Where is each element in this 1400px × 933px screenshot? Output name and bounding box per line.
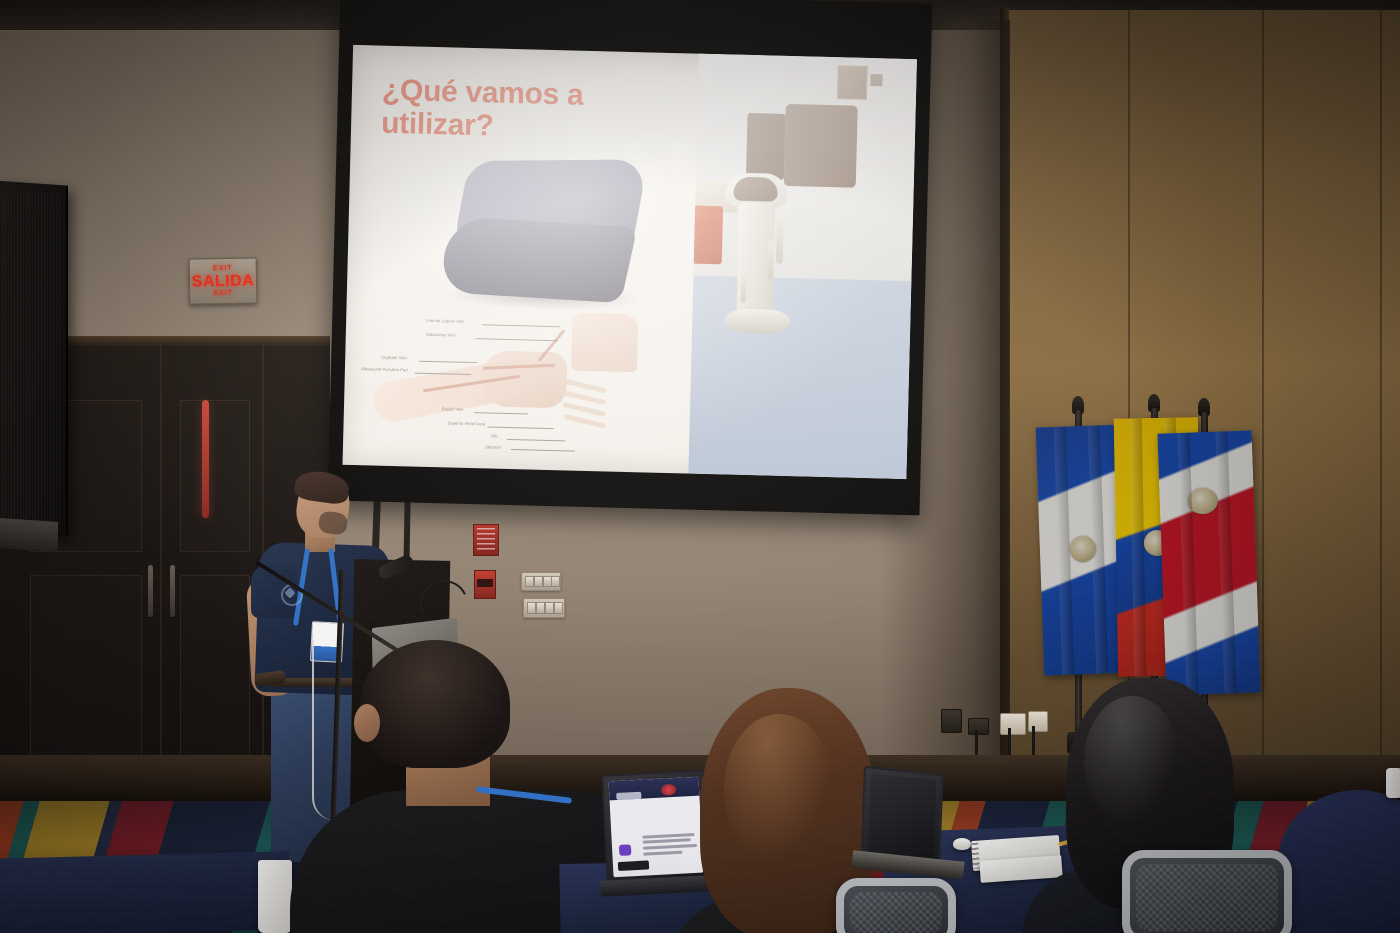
conference-room-photo: EXIT SALIDA EXIT ¿Qué vamos a utilizar? [0, 0, 1400, 933]
anatomy-label-internal-jugular-vein: Internal Jugular Vein [426, 318, 464, 324]
door-edge-light [202, 400, 209, 518]
label-leader-line [476, 338, 558, 341]
photo-red-cart [692, 206, 723, 265]
exit-sign: EXIT SALIDA EXIT [189, 257, 258, 304]
slide-title: ¿Qué vamos a utilizar? [381, 74, 653, 147]
exit-sign-main-label: SALIDA [192, 272, 255, 290]
computer-mouse[interactable] [953, 838, 971, 850]
projection-screen: ¿Qué vamos a utilizar? [328, 0, 933, 515]
audience-chair[interactable] [1122, 850, 1292, 933]
audience-chair[interactable] [836, 878, 956, 933]
speaker-mount [0, 518, 58, 552]
cart-probe [741, 273, 747, 303]
laptop-screen[interactable] [868, 773, 937, 862]
label-leader-line [474, 412, 528, 414]
slide-device-illustration [437, 157, 661, 313]
hair-highlight [724, 714, 834, 864]
attendee-hair [360, 640, 510, 768]
anatomy-label-sternum: Sternum [485, 444, 501, 449]
photo-wall-box [837, 65, 868, 100]
device-front-face [436, 216, 637, 303]
page-button[interactable] [618, 860, 649, 871]
front-table-left [0, 851, 291, 933]
chair-mesh-back [1136, 864, 1278, 931]
wall-speaker [0, 180, 68, 535]
label-leader-line [507, 439, 565, 441]
slide-title-line-2: utilizar? [381, 107, 652, 147]
chair-frame [1122, 850, 1292, 933]
anatomy-rib [564, 414, 606, 429]
anatomy-label-basilic-vein: Basilic Vein [442, 406, 464, 412]
door-handle[interactable] [148, 565, 153, 617]
page-badge [619, 845, 631, 856]
slide-clinical-photo [688, 54, 917, 479]
laptop-screen[interactable] [609, 777, 704, 878]
anatomy-label-ultrasound-puncture-part: Ultrasound Puncture Part [361, 366, 408, 372]
attendee-ear [354, 704, 380, 742]
photo-ultrasound-cart [721, 172, 800, 364]
cart-probe [776, 218, 784, 264]
door-panel [180, 400, 250, 552]
drinking-cup[interactable] [258, 860, 292, 933]
anatomy-label-cephalic-vein: Cephalic Vein [381, 355, 407, 361]
slide-anatomy-illustration: Internal Jugular Vein Subclavian Vein Ce… [361, 303, 645, 460]
exit-sign-bottom-label: EXIT [213, 289, 233, 297]
chair-mesh-back [850, 892, 942, 933]
speaker-grille [0, 189, 60, 525]
cart-probe [767, 239, 774, 279]
anatomy-label-superior-vena-cava: Superior Vena Cava [448, 420, 486, 426]
laptop-lid [601, 769, 711, 884]
light-switch-plate[interactable] [521, 572, 561, 591]
label-leader-line [482, 324, 560, 327]
hair-highlight [1084, 696, 1180, 826]
attendee-laptop-center[interactable] [601, 769, 711, 884]
panel-seam [1380, 10, 1382, 800]
fire-alarm-sign [473, 524, 499, 556]
water-bottle[interactable] [1386, 768, 1400, 798]
anatomy-torso [571, 313, 638, 373]
wall-port-dark[interactable] [941, 709, 962, 733]
projected-slide: ¿Qué vamos a utilizar? [343, 45, 917, 479]
anatomy-label-subclavian-vein: Subclavian Vein [426, 332, 456, 338]
anatomy-label-rib: Rib [491, 434, 497, 439]
cart-base [724, 308, 791, 334]
label-leader-line [511, 449, 575, 452]
fire-alarm-pull-station[interactable] [474, 570, 496, 599]
cart-screen [733, 177, 778, 202]
door-handle[interactable] [170, 565, 175, 617]
label-leader-line [488, 426, 554, 429]
light-switch-plate[interactable] [523, 598, 565, 618]
door-panel [180, 575, 250, 777]
photo-wall-switch [870, 74, 882, 86]
flag-costa-rica [1157, 430, 1260, 695]
browser-tab[interactable] [616, 791, 642, 800]
chair-frame [836, 878, 956, 933]
microphone-cable [312, 640, 334, 820]
label-leader-line [419, 361, 477, 363]
photo-secondary-monitor [746, 113, 786, 180]
